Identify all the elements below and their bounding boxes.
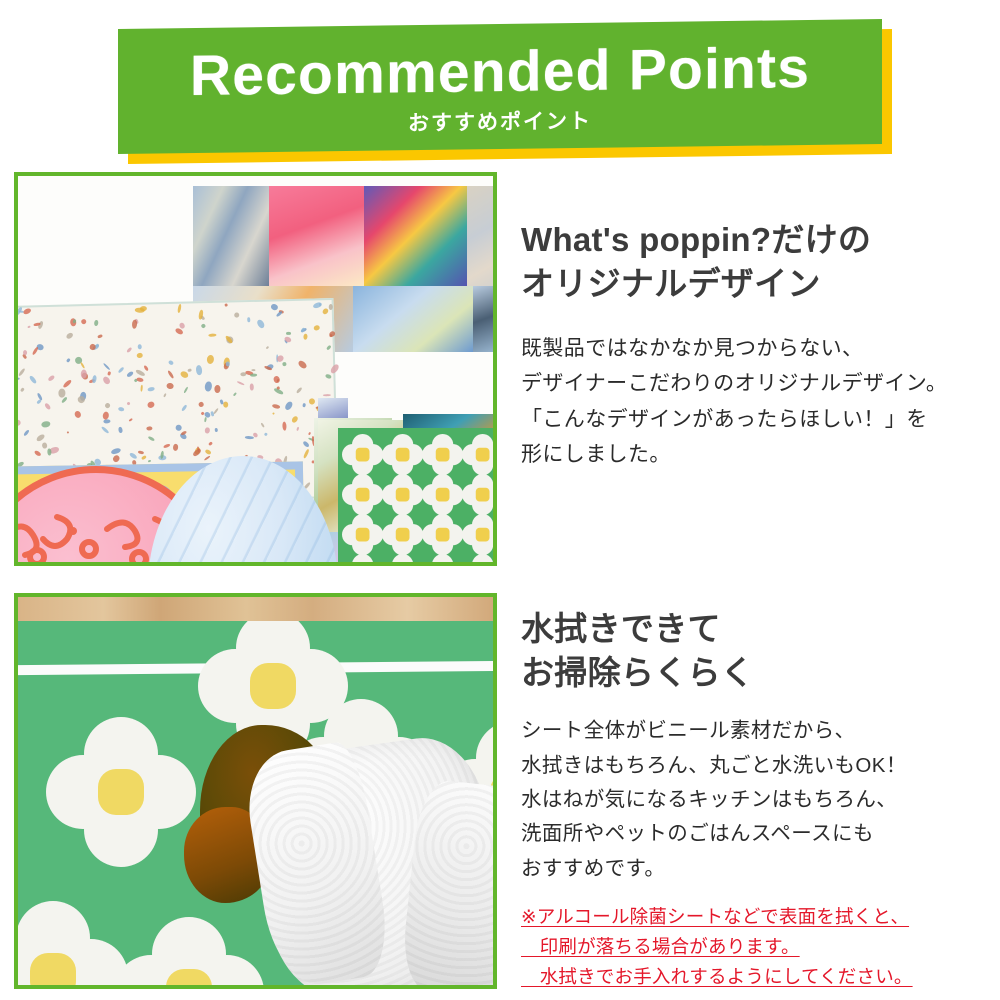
section-1-heading: What's poppin?だけの オリジナルデザイン xyxy=(521,218,994,305)
header-banner: Recommended Points おすすめポイント xyxy=(0,0,1000,172)
section-2-note: ※アルコール除菌シートなどで表面を拭くと、 印刷が落ちる場合があります。 水拭き… xyxy=(521,902,994,992)
section-wipeable: 水拭きできて お掃除らくらく シート全体がビニール素材だから、 水拭きはもちろん… xyxy=(14,593,994,993)
section-1-body: 既製品ではなかなか見つからない、 デザイナーこだわりのオリジナルデザイン。 「こ… xyxy=(521,331,994,472)
page-title: Recommended Points xyxy=(190,40,810,105)
page-subtitle: おすすめポイント xyxy=(408,111,592,134)
graffiti-swatch-2 xyxy=(269,186,364,286)
section-2-body: シート全体がビニール素材だから、 水拭きはもちろん、丸ごと水洗いもOK！ 水はね… xyxy=(521,714,994,886)
section-2-heading: 水拭きできて お掃除らくらく xyxy=(521,607,994,694)
photo-wiping-mat xyxy=(14,593,497,989)
graffiti-row2-2 xyxy=(353,286,473,352)
graffiti-swatch-4 xyxy=(467,186,497,286)
photo-design-sheets xyxy=(14,172,497,566)
wood-floor xyxy=(18,597,493,621)
green-flower-sheet xyxy=(338,428,497,566)
section-original-design: What's poppin?だけの オリジナルデザイン 既製品ではなかなか見つか… xyxy=(14,172,994,570)
graffiti-row2-3 xyxy=(473,286,497,352)
text-column-1: What's poppin?だけの オリジナルデザイン 既製品ではなかなか見つか… xyxy=(497,172,994,570)
graffiti-swatch-1 xyxy=(193,186,269,286)
text-column-2: 水拭きできて お掃除らくらく シート全体がビニール素材だから、 水拭きはもちろん… xyxy=(497,593,994,993)
page-root: Recommended Points おすすめポイント xyxy=(0,0,1000,1000)
graffiti-swatch-3 xyxy=(364,186,467,286)
banner-text-group: Recommended Points おすすめポイント xyxy=(118,19,882,154)
